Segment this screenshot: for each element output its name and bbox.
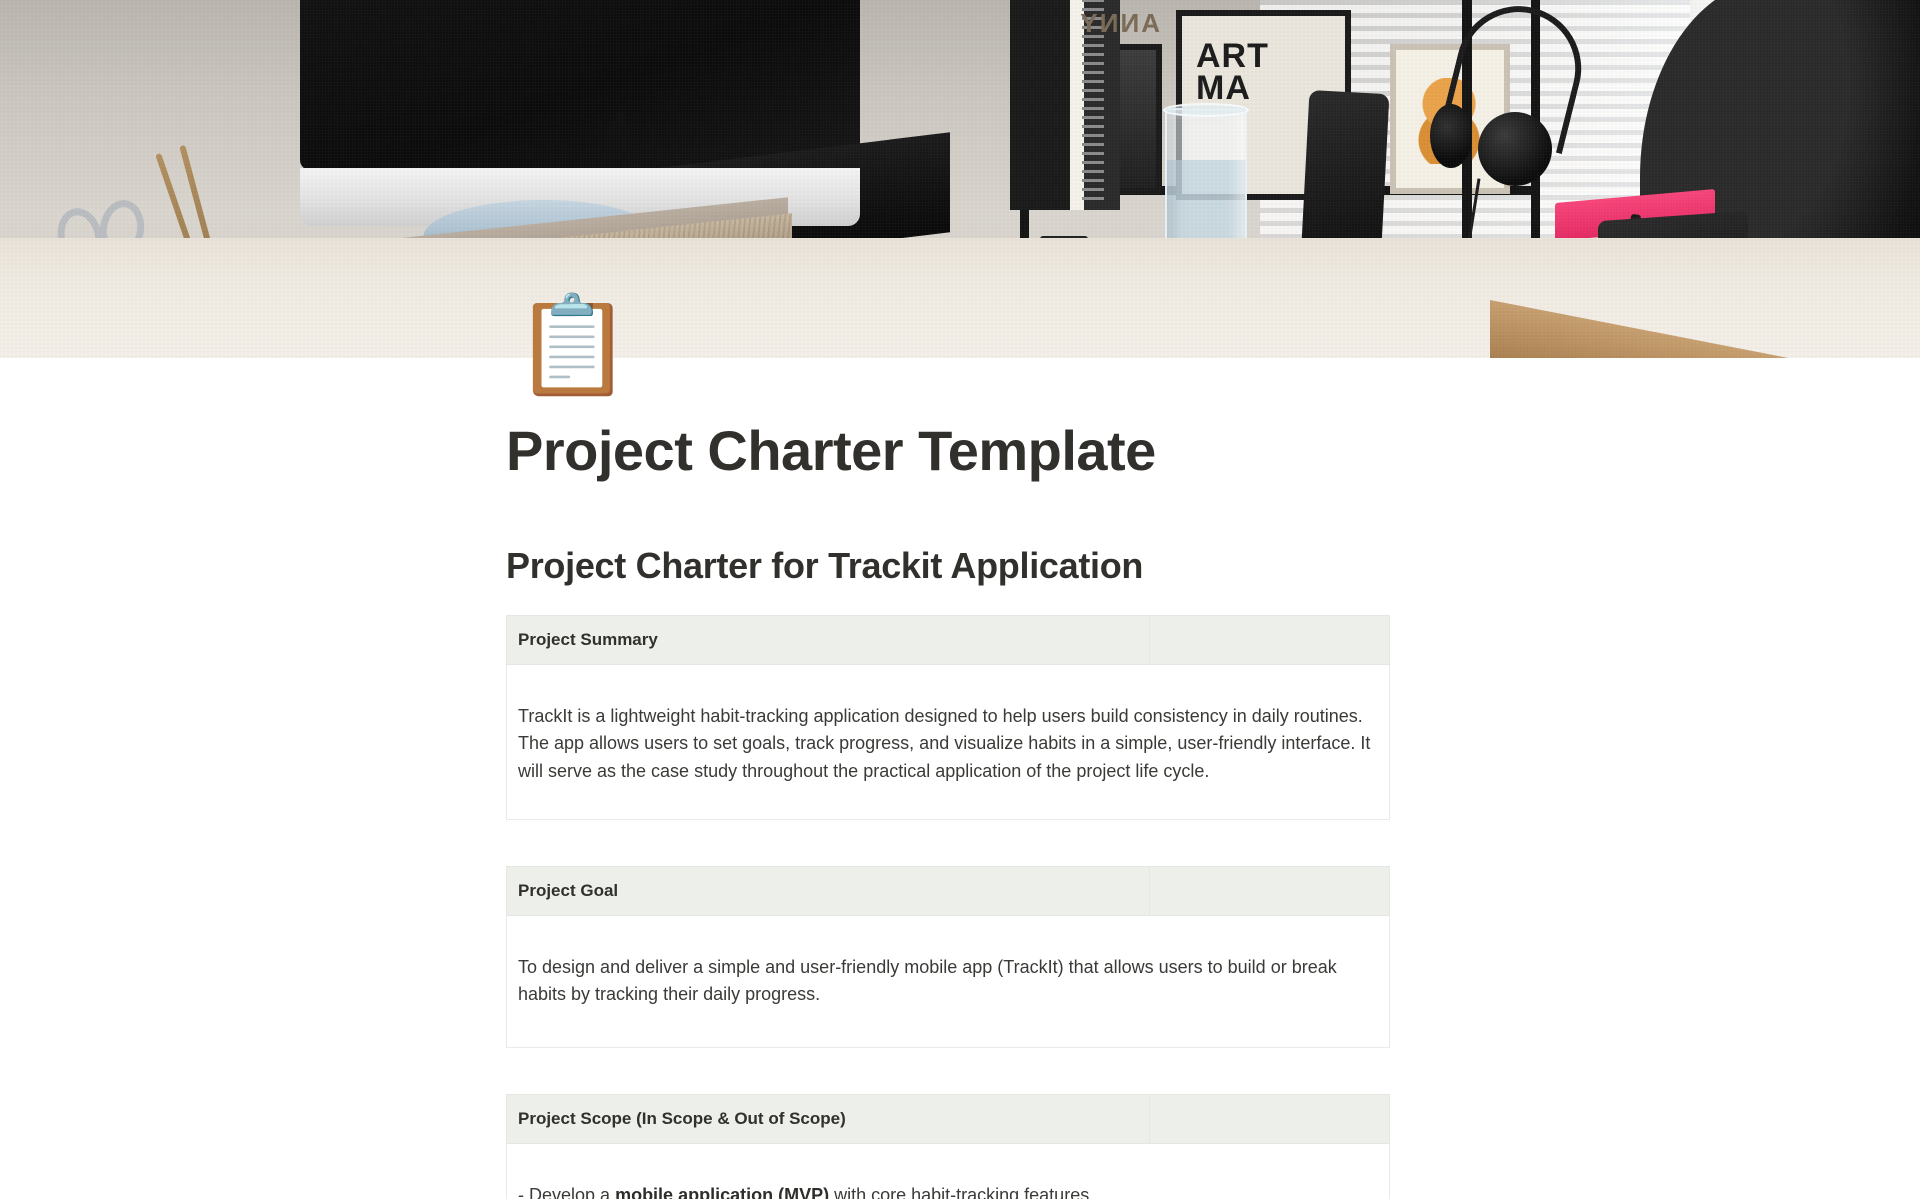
document-content: Project Charter Template Project Charter… <box>0 358 1920 1199</box>
table-header-row: Project Goal <box>507 866 1390 915</box>
glass-rim <box>1163 103 1249 117</box>
table-row: - Develop a mobile application (MVP) wit… <box>507 1143 1390 1199</box>
table-header-cell[interactable]: Project Summary <box>507 615 1150 664</box>
table-project-goal[interactable]: Project Goal To design and deliver a sim… <box>506 866 1390 1048</box>
content-inner: Project Charter Template Project Charter… <box>0 420 1920 1199</box>
clipboard-icon[interactable]: 📋 <box>513 298 613 410</box>
book-spine-text: ANNY <box>1030 8 1160 58</box>
headphones-earcup-far <box>1430 104 1472 168</box>
table-cell-body[interactable]: - Develop a mobile application (MVP) wit… <box>507 1143 1390 1199</box>
table-project-summary[interactable]: Project Summary TrackIt is a lightweight… <box>506 615 1390 820</box>
table-header-cell-empty[interactable] <box>1150 866 1390 915</box>
table-cell-body[interactable]: TrackIt is a lightweight habit-tracking … <box>507 664 1390 819</box>
table-header-cell-empty[interactable] <box>1150 1094 1390 1143</box>
table-header-cell[interactable]: Project Goal <box>507 866 1150 915</box>
table-header-cell[interactable]: Project Scope (In Scope & Out of Scope) <box>507 1094 1150 1143</box>
table-header-cell-empty[interactable] <box>1150 615 1390 664</box>
table-project-scope[interactable]: Project Scope (In Scope & Out of Scope) … <box>506 1094 1390 1199</box>
page-title[interactable]: Project Charter Template <box>506 420 1920 482</box>
imac-screen <box>300 0 860 170</box>
table-header-row: Project Scope (In Scope & Out of Scope) <box>507 1094 1390 1143</box>
cover-scene: ANNY <box>0 0 1920 358</box>
table-row: To design and deliver a simple and user-… <box>507 915 1390 1047</box>
table-header-row: Project Summary <box>507 615 1390 664</box>
table-row: TrackIt is a lightweight habit-tracking … <box>507 664 1390 819</box>
table-cell-body[interactable]: To design and deliver a simple and user-… <box>507 915 1390 1047</box>
document-page: ANNY <box>0 0 1920 1199</box>
headphones-earcup-near <box>1478 112 1552 186</box>
cover-image[interactable]: ANNY <box>0 0 1920 358</box>
section-heading[interactable]: Project Charter for Trackit Application <box>506 544 1920 587</box>
